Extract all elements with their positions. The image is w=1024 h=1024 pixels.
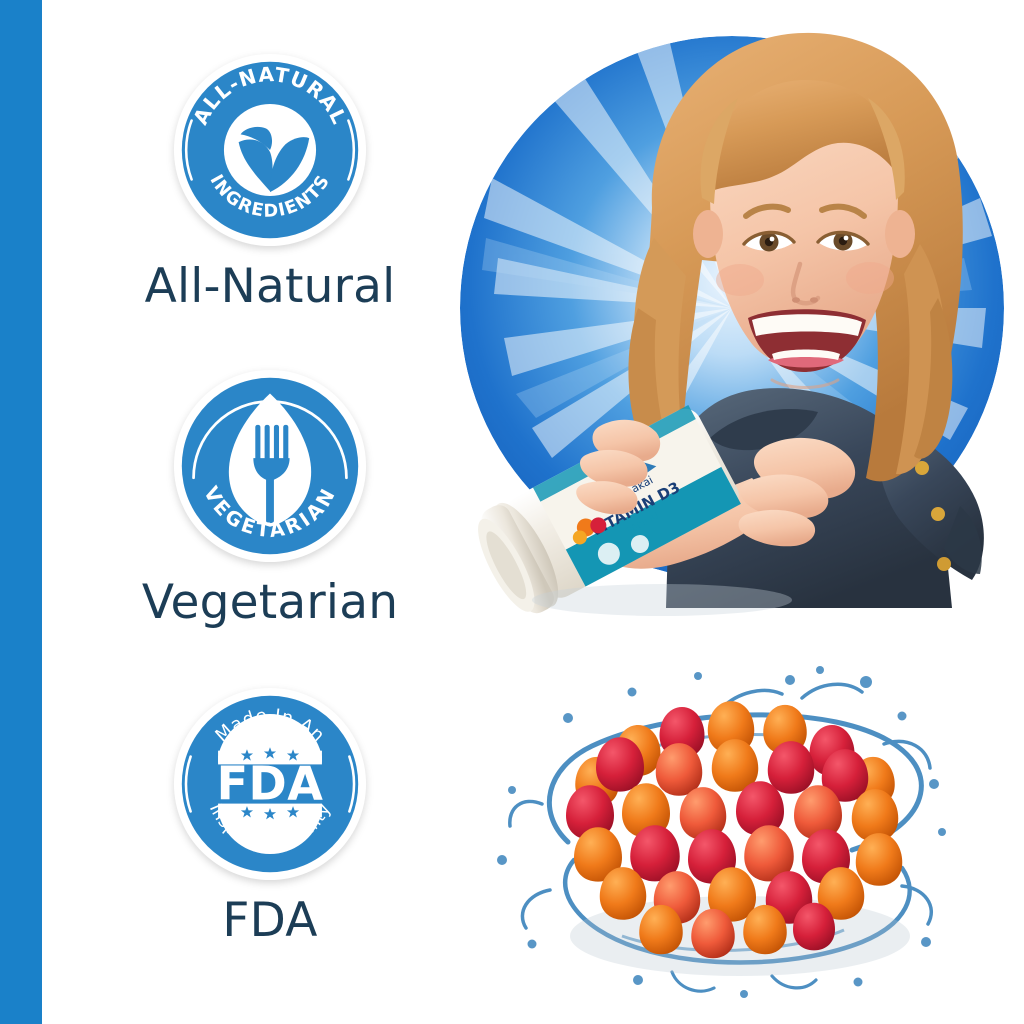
left-accent-bar xyxy=(0,0,42,1024)
all-natural-seal-icon: ALL-NATURAL INGREDIENTS xyxy=(172,52,368,248)
benefit-item-fda: FDA Made In An Inspected Facility FDA xyxy=(90,686,450,945)
fda-center-text: FDA xyxy=(217,757,324,811)
hero-photo-child-with-bottle: Lunakai VITAMIN D3 3000 IU xyxy=(452,8,1024,628)
benefit-item-vegetarian: VEGETARIAN Vegetarian xyxy=(90,368,450,627)
benefit-label-vegetarian: Vegetarian xyxy=(90,578,450,627)
gummies-photo-with-water-splash xyxy=(472,636,992,1008)
shirt-button xyxy=(937,557,951,571)
shirt-button xyxy=(931,507,945,521)
benefit-item-all-natural: ALL-NATURAL INGREDIENTS All-Natural xyxy=(90,52,450,311)
infographic-canvas: ALL-NATURAL INGREDIENTS All-Natural xyxy=(0,0,1024,1024)
vegetarian-seal-icon: VEGETARIAN xyxy=(172,368,368,564)
benefit-label-fda: FDA xyxy=(90,896,450,945)
benefit-label-all-natural: All-Natural xyxy=(90,262,450,311)
benefits-badge-column: ALL-NATURAL INGREDIENTS All-Natural xyxy=(90,0,450,1024)
fda-seal-icon: FDA Made In An Inspected Facility xyxy=(172,686,368,882)
